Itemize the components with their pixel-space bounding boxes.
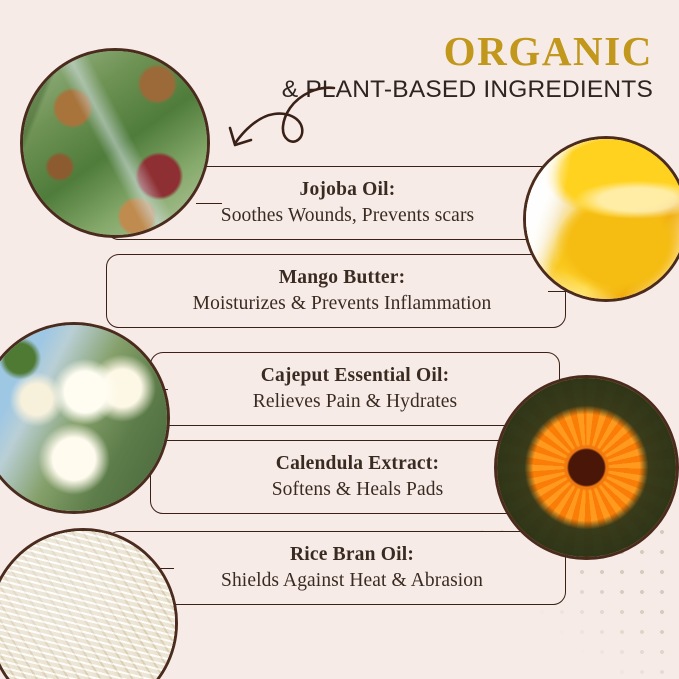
ingredient-name: Rice Bran Oil: <box>221 543 483 566</box>
ingredient-card-text: Rice Bran Oil: Shields Against Heat & Ab… <box>211 543 493 592</box>
calendula-flower-photo <box>494 375 679 560</box>
cajeput-flower-photo <box>0 322 170 514</box>
ingredient-name: Jojoba Oil: <box>221 178 474 201</box>
calendula-flower-image <box>497 378 676 557</box>
ingredient-card-text: Calendula Extract: Softens & Heals Pads <box>262 452 454 501</box>
ingredient-description: Softens & Heals Pads <box>272 478 444 501</box>
curly-arrow-icon <box>222 78 340 170</box>
rice-grains-photo <box>0 528 178 679</box>
cajeput-flower-image <box>0 325 167 511</box>
ingredients-infographic: ORGANIC & PLANT-BASED INGREDIENTS Jojoba… <box>0 0 679 679</box>
ingredient-description: Relieves Pain & Hydrates <box>253 390 457 413</box>
mango-butter-photo <box>523 136 679 302</box>
ingredient-card-mango-butter[interactable]: Mango Butter: Moisturizes & Prevents Inf… <box>106 254 566 328</box>
ingredient-description: Shields Against Heat & Abrasion <box>221 569 483 592</box>
ingredient-name: Calendula Extract: <box>272 452 444 475</box>
ingredient-description: Soothes Wounds, Prevents scars <box>221 204 474 227</box>
jojoba-plant-image <box>23 51 207 235</box>
ingredient-description: Moisturizes & Prevents Inflammation <box>193 292 492 315</box>
jojoba-plant-photo <box>20 48 210 238</box>
rice-grains-image <box>0 531 175 679</box>
page-title: ORGANIC <box>282 30 653 73</box>
ingredient-card-text: Jojoba Oil: Soothes Wounds, Prevents sca… <box>211 178 484 227</box>
ingredient-name: Mango Butter: <box>193 266 492 289</box>
ingredient-card-text: Mango Butter: Moisturizes & Prevents Inf… <box>183 266 502 315</box>
ingredient-name: Cajeput Essential Oil: <box>253 364 457 387</box>
mango-butter-image <box>526 139 679 299</box>
ingredient-card-text: Cajeput Essential Oil: Relieves Pain & H… <box>243 364 467 413</box>
